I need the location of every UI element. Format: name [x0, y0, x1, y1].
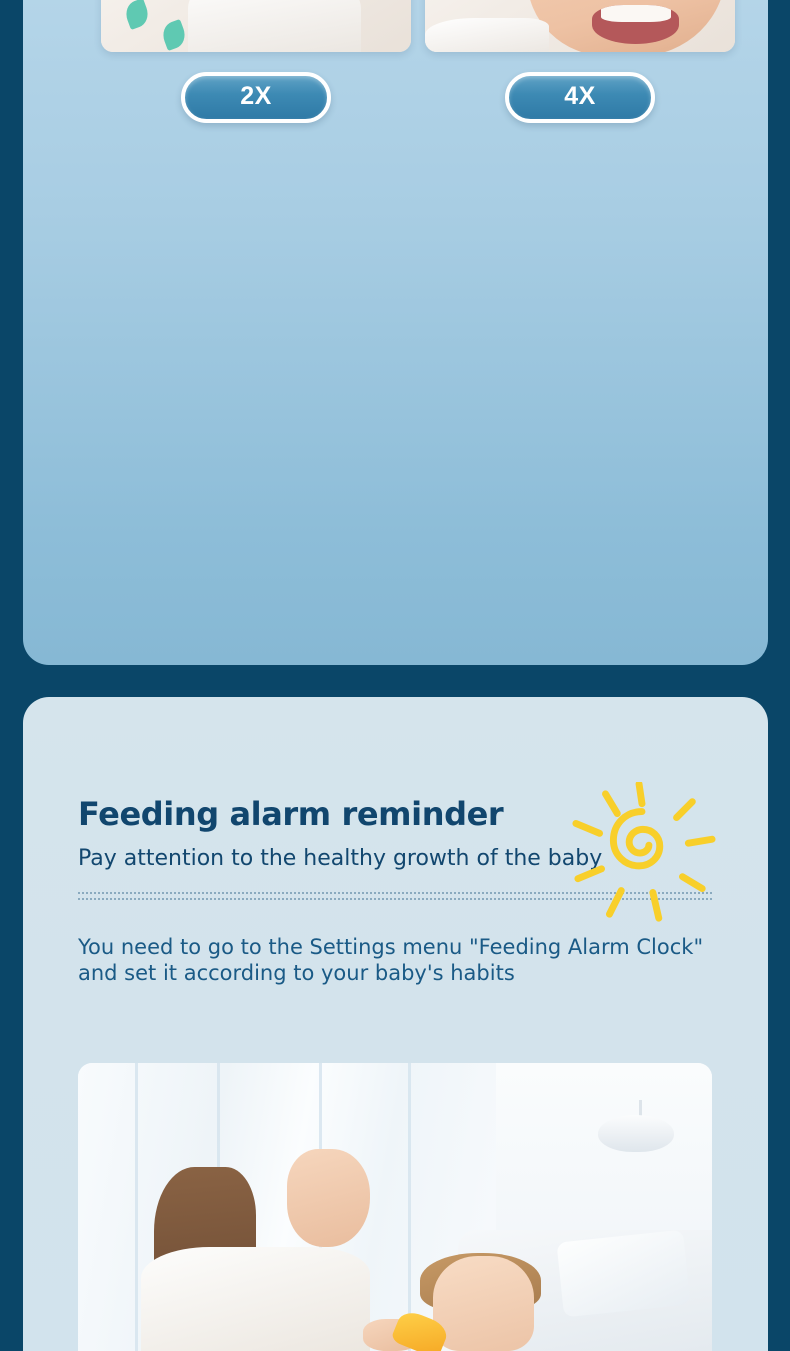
baby-face-illustration-2x — [101, 0, 411, 52]
mother-hair — [217, 1115, 344, 1334]
baby-teeth — [601, 5, 670, 22]
baby-face-2x-zoom-photo — [101, 0, 411, 52]
mother-feeding-baby-photo — [78, 1063, 712, 1351]
baby-shirt — [425, 18, 549, 52]
zoom-level-2x-button[interactable]: 2X — [181, 72, 331, 123]
zoom-button-row-2x: 2X — [101, 72, 411, 123]
baby-mouth — [592, 5, 679, 43]
sofa-cushion — [556, 1229, 690, 1317]
zoom-comparison-grid: 2X — [101, 0, 735, 123]
baby-face-illustration-4x — [425, 0, 735, 52]
zoom-feature-card: OK — [23, 0, 768, 665]
curtain-stripe-4 — [408, 1063, 411, 1351]
zoom-item-4x: 4X — [425, 0, 735, 123]
zoom-item-2x: 2X — [101, 0, 411, 123]
curtain-stripe-1 — [135, 1063, 138, 1351]
zoom-level-4x-button[interactable]: 4X — [505, 72, 655, 123]
baby-head — [433, 1256, 534, 1351]
sun-doodle-icon — [568, 782, 716, 930]
baby-face-4x-zoom-photo — [425, 0, 735, 52]
zoom-button-row-4x: 4X — [425, 72, 735, 123]
feeding-alarm-instruction: You need to go to the Settings menu "Fee… — [78, 934, 712, 987]
baby-shirt — [188, 0, 362, 52]
living-room-illustration — [78, 1063, 712, 1351]
floor-lamp-shade — [598, 1115, 674, 1152]
feeding-alarm-text-block: Feeding alarm reminder Pay attention to … — [78, 798, 712, 987]
